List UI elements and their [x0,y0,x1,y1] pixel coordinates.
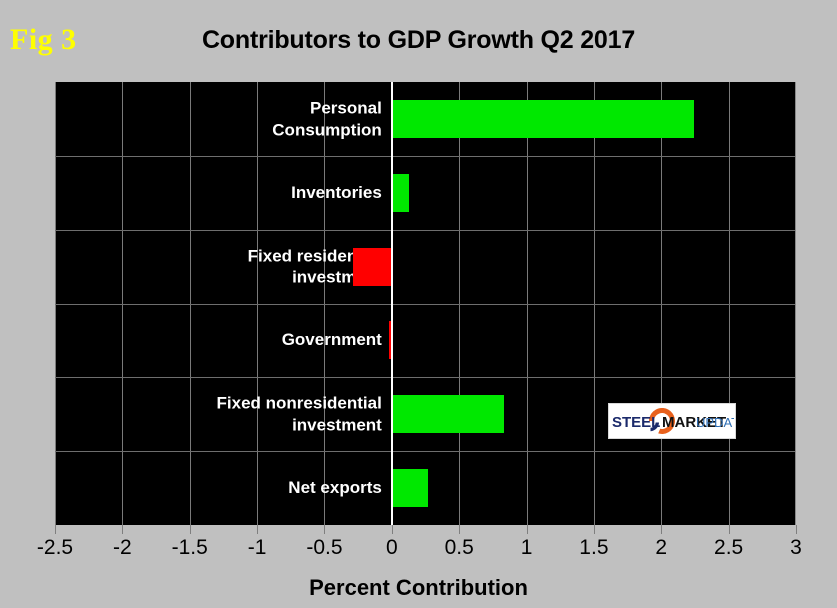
x-tickmark [661,525,662,534]
zero-line [391,82,393,525]
x-tick-label: -1 [248,536,267,560]
x-axis-title: Percent Contribution [0,575,837,601]
x-tick-label: -1.5 [172,536,208,560]
category-label: PersonalConsumption [67,97,387,141]
category-label: Net exports [67,477,387,499]
x-tick-label: 2.5 [714,536,743,560]
x-tickmark [459,525,460,534]
x-tick-label: 0 [386,536,398,560]
bar-negative [353,248,392,286]
bar-row: Net exports [55,451,795,525]
x-tickmark [729,525,730,534]
bar-positive [392,174,410,212]
x-tick-label: 0.5 [445,536,474,560]
category-label: Fixed residentialinvestment [67,245,387,289]
bar-row: Government [55,304,795,378]
svg-text:UPDATE: UPDATE [696,415,734,430]
x-tick-label: -0.5 [306,536,342,560]
x-tickmark [527,525,528,534]
category-label: Fixed nonresidentialinvestment [67,392,387,436]
smu-logo-graphic: STEEL MARKET UPDATE [610,406,734,436]
x-axis-tick-labels: -2.5-2-1.5-1-0.500.511.522.53 [55,536,796,566]
bar-positive [392,395,504,433]
bar-row: Fixed residentialinvestment [55,230,795,304]
plot-area: PersonalConsumptionInventoriesFixed resi… [55,82,796,525]
bar-row: PersonalConsumption [55,82,795,156]
bar-positive [392,469,428,507]
category-label: Government [67,330,387,352]
x-tick-label: 1 [521,536,533,560]
x-tick-label: -2.5 [37,536,73,560]
bar-positive [392,100,694,138]
steel-market-update-logo: STEEL MARKET UPDATE [608,403,736,439]
x-tickmark [190,525,191,534]
x-tickmark [122,525,123,534]
x-tickmark [594,525,595,534]
x-tickmark [324,525,325,534]
x-tickmark [55,525,56,534]
x-tickmark [257,525,258,534]
x-tickmark [796,525,797,534]
x-tick-label: 1.5 [579,536,608,560]
x-tick-label: 3 [790,536,802,560]
chart-title: Contributors to GDP Growth Q2 2017 [0,26,837,55]
bar-row: Inventories [55,156,795,230]
x-tick-label: 2 [655,536,667,560]
x-tickmark [392,525,393,534]
x-tick-label: -2 [113,536,132,560]
svg-text:STEEL: STEEL [612,414,660,431]
category-label: Inventories [67,182,387,204]
